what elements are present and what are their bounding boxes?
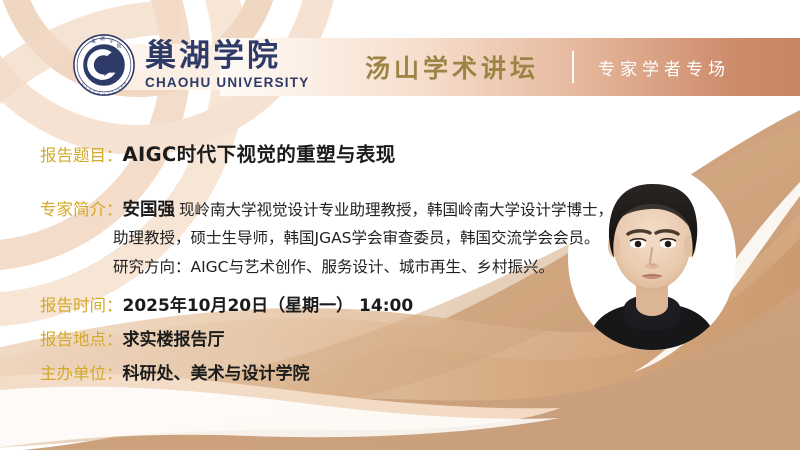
bio-line-1: 现岭南大学视觉设计专业助理教授，韩国岭南大学设计学博士， [179,198,613,220]
host-row: 主办单位： 科研处、美术与设计学院 [40,359,310,384]
bio-row: 专家简介： 安国强 现岭南大学视觉设计专业助理教授，韩国岭南大学设计学博士， [40,196,613,221]
bio-line-3-wrap: 研究方向：AIGC与艺术创作、服务设计、城市再生、乡村振兴。 [113,255,554,277]
bio-line-2-wrap: 助理教授，硕士生导师，韩国JGAS学会审查委员，韩国交流学会会员。 [113,226,600,248]
topic-value: AIGC时代下视觉的重塑与表现 [123,138,396,167]
time-label: 报告时间： [40,292,123,316]
bio-line-2: 助理教授，硕士生导师，韩国JGAS学会审查委员，韩国交流学会会员。 [113,229,600,247]
place-value: 求实楼报告厅 [123,325,225,350]
host-value: 科研处、美术与设计学院 [123,359,310,384]
time-row: 报告时间： 2025年10月20日（星期一） 14:00 [40,291,413,316]
place-row: 报告地点： 求实楼报告厅 [40,325,225,350]
poster-canvas: 汤山学术讲坛 专家学者专场 巢 湖 学 院 C H A O H U [0,0,800,450]
bio-label: 专家简介： [40,196,123,220]
speaker-name: 安国强 [123,196,176,221]
time-value: 2025年10月20日（星期一） 14:00 [123,291,414,316]
topic-row: 报告题目： AIGC时代下视觉的重塑与表现 [40,138,396,167]
topic-label: 报告题目： [40,142,123,166]
poster-content: 报告题目： AIGC时代下视觉的重塑与表现 专家简介： 安国强 现岭南大学视觉设… [0,0,800,450]
host-label: 主办单位： [40,360,123,384]
place-label: 报告地点： [40,326,123,350]
bio-line-3: 研究方向：AIGC与艺术创作、服务设计、城市再生、乡村振兴。 [113,258,554,276]
